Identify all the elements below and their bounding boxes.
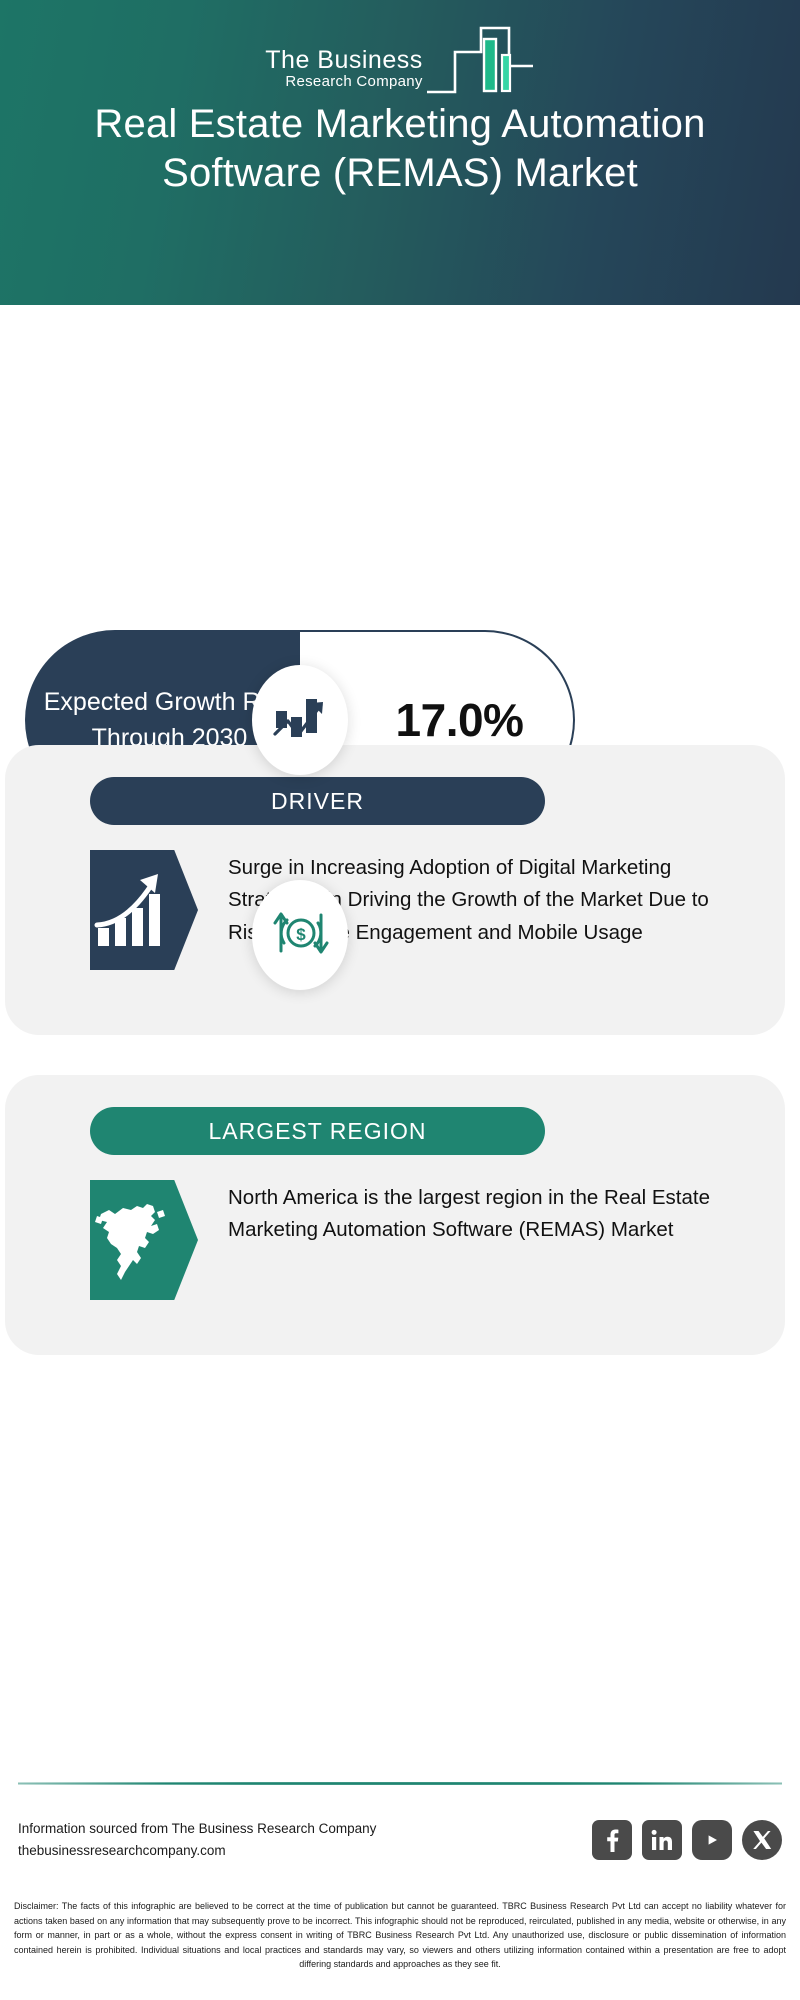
driver-tag: DRIVER: [90, 777, 545, 825]
dollar-cycle-icon: $: [271, 905, 329, 966]
driver-body: Surge in Increasing Adoption of Digital …: [90, 850, 725, 970]
logo-line-2: Research Company: [285, 73, 422, 92]
info-card-largest-region: LARGEST REGION North America is the larg…: [5, 1075, 785, 1355]
linkedin-icon[interactable]: [642, 1820, 682, 1860]
company-logo: The Business Research Company: [0, 22, 800, 100]
growth-rate-badge: [252, 665, 348, 775]
logo-wordmark: The Business Research Company: [265, 48, 422, 100]
info-card-driver: DRIVER Surge in Increasing Adoption of D…: [5, 745, 785, 1035]
footer-source-line-1: Information sourced from The Business Re…: [18, 1818, 376, 1840]
header-banner: The Business Research Company Real Estat…: [0, 0, 800, 305]
footer-source-line-2: thebusinessresearchcompany.com: [18, 1840, 376, 1862]
largest-region-body: North America is the largest region in t…: [90, 1180, 725, 1300]
largest-region-text: North America is the largest region in t…: [228, 1180, 725, 1247]
youtube-icon[interactable]: [692, 1820, 732, 1860]
north-america-map-icon: [90, 1180, 198, 1300]
footer: Information sourced from The Business Re…: [18, 1818, 782, 1863]
footer-source: Information sourced from The Business Re…: [18, 1818, 376, 1863]
growth-rate-value: 17.0%: [350, 693, 524, 747]
svg-text:$: $: [296, 925, 306, 944]
bar-chart-logo-mark: [425, 22, 535, 99]
social-links: [592, 1820, 782, 1860]
logo-line-1: The Business: [265, 48, 422, 74]
x-twitter-icon[interactable]: [742, 1820, 782, 1860]
footer-divider: [18, 1782, 782, 1785]
market-size-badge: $: [252, 880, 348, 990]
bar-chart-arrow-up-icon: [271, 691, 329, 750]
facebook-icon[interactable]: [592, 1820, 632, 1860]
growth-bar-chart-icon: [90, 850, 198, 970]
disclaimer-text: Disclaimer: The facts of this infographi…: [14, 1899, 786, 1972]
page-title: Real Estate Marketing Automation Softwar…: [0, 100, 800, 198]
largest-region-tag: LARGEST REGION: [90, 1107, 545, 1155]
